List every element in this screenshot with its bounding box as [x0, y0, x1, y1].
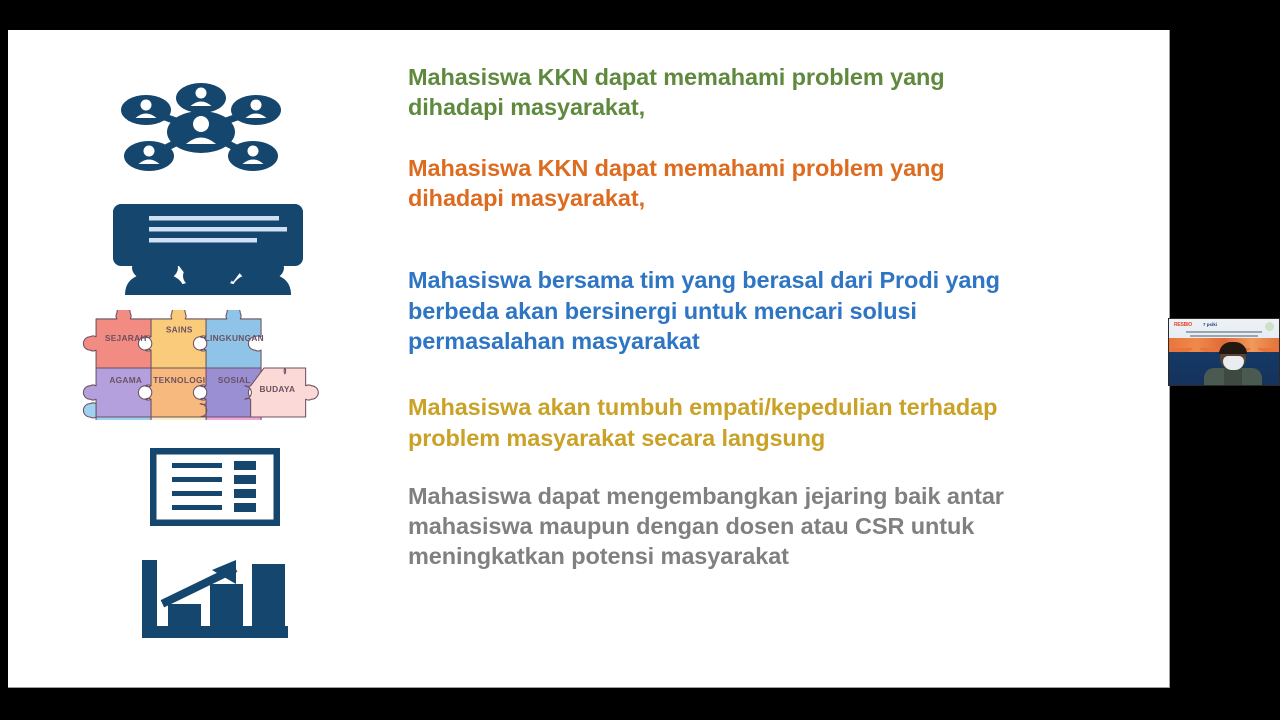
banner-logo: RESBIO [1174, 322, 1192, 328]
puzzle-label: TEKNOLOGI [153, 375, 205, 385]
icon-column: SEJARAH SAINS LINGKUNGAN AGAMA TEKNOLOGI… [68, 50, 368, 660]
slide-paragraph-3: Mahasiswa bersama tim yang berasal dari … [408, 265, 1028, 356]
document-list-icon [150, 448, 280, 531]
puzzle-piece [151, 417, 206, 420]
slide-text-column: Mahasiswa KKN dapat memahami problem yan… [408, 62, 1028, 572]
participant-video-thumbnail[interactable]: RESBIO 7 psiki [1168, 318, 1280, 386]
puzzle-label: SAINS [166, 324, 193, 334]
puzzle-label: SEJARAH [105, 333, 147, 343]
growth-bar-chart-icon [140, 558, 290, 653]
presentation-slide: SEJARAH SAINS LINGKUNGAN AGAMA TEKNOLOGI… [8, 30, 1170, 688]
meeting-screen: SEJARAH SAINS LINGKUNGAN AGAMA TEKNOLOGI… [0, 0, 1280, 720]
slide-paragraph-1: Mahasiswa KKN dapat memahami problem yan… [408, 62, 1028, 123]
banner-text-line [1186, 331, 1262, 333]
banner-text-line [1190, 335, 1258, 337]
network-hub-icon [116, 78, 286, 178]
slide-paragraph-4: Mahasiswa akan tumbuh empati/kepedulian … [408, 392, 1028, 453]
banner-logo-suffix: 7 psiki [1203, 322, 1217, 327]
puzzle-icon: SEJARAH SAINS LINGKUNGAN AGAMA TEKNOLOGI… [82, 310, 342, 425]
slide-paragraph-2: Mahasiswa KKN dapat memahami problem yan… [408, 153, 1028, 214]
participant-body [1204, 368, 1262, 386]
puzzle-label: AGAMA [109, 375, 142, 385]
puzzle-label: BUDAYA [259, 384, 295, 394]
banner-badge [1265, 322, 1274, 331]
puzzle-piece [145, 310, 206, 368]
puzzle-label: SOSIAL [218, 375, 251, 385]
video-feed: RESBIO 7 psiki [1168, 318, 1280, 386]
puzzle-label: LINGKUNGAN [205, 333, 264, 343]
slide-paragraph-5: Mahasiswa dapat mengembangkan jejaring b… [408, 481, 1028, 572]
group-discussion-icon [113, 200, 303, 300]
